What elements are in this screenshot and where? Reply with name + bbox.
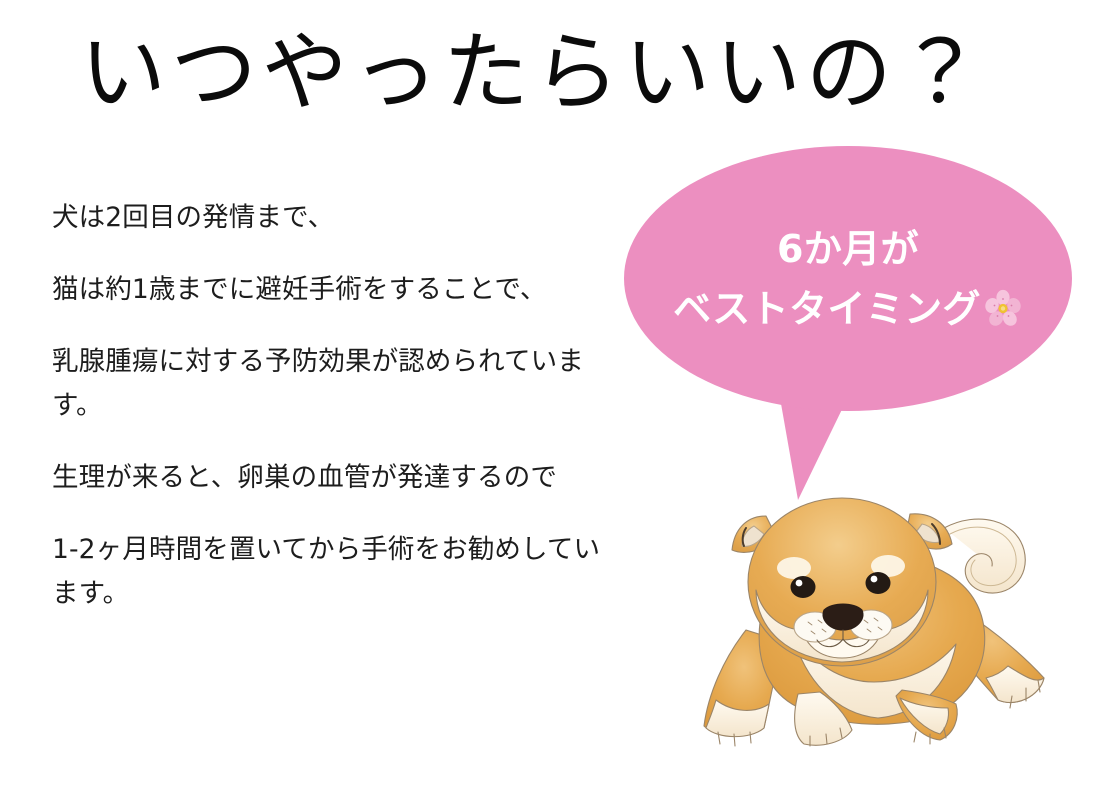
body-paragraph: 猫は約1歳までに避妊手術をすることで、 (52, 268, 622, 312)
body-paragraph: 犬は2回目の発情まで、 (52, 196, 622, 240)
body-paragraph: 生理が来ると、卵巣の血管が発達するので (52, 456, 622, 500)
shiba-inu-puppy-illustration (672, 482, 1082, 752)
speech-bubble: 6か月が ベストタイミング (624, 146, 1072, 506)
body-paragraph: 1-2ヶ月時間を置いてから手術をお勧めしています。 (52, 528, 622, 616)
speech-bubble-body (624, 146, 1072, 411)
slide-canvas: いつやったらいいの？ 犬は2回目の発情まで、 猫は約1歳までに避妊手術をすること… (0, 0, 1105, 789)
body-paragraph: 乳腺腫瘍に対する予防効果が認められています。 (52, 340, 622, 428)
body-text-block: 犬は2回目の発情まで、 猫は約1歳までに避妊手術をすることで、 乳腺腫瘍に対する… (52, 196, 622, 616)
page-title: いつやったらいいの？ (80, 18, 1040, 128)
